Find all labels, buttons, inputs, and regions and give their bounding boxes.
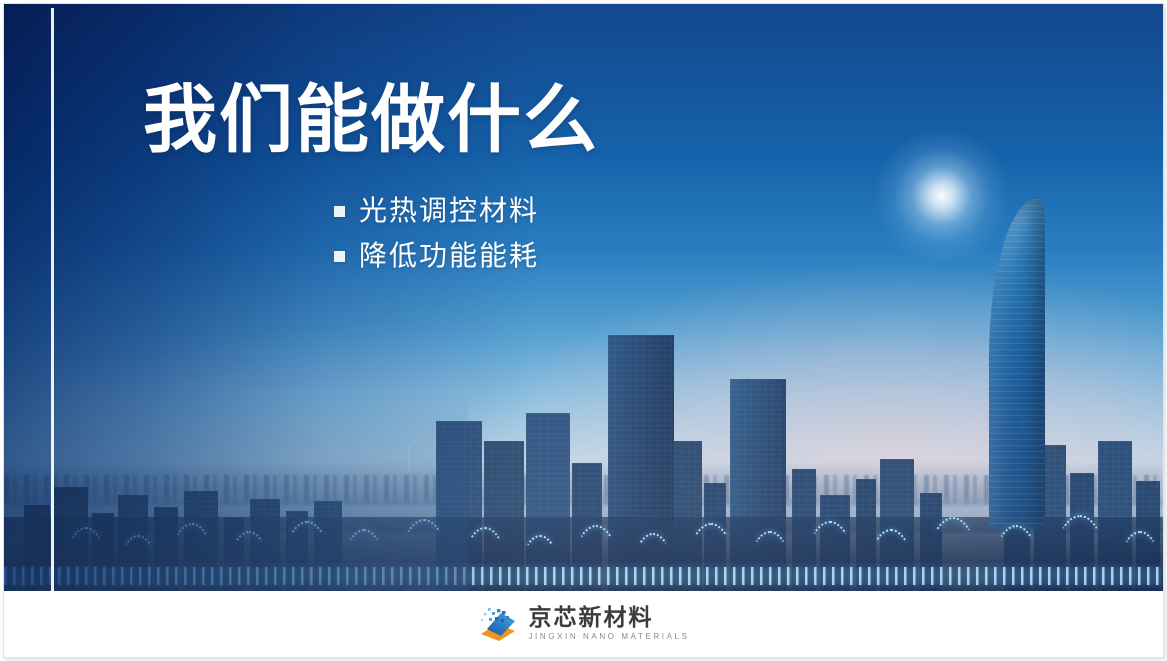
ferris-wheel-icon	[382, 419, 436, 473]
bullet-label: 降低功能能耗	[359, 241, 539, 272]
logo-wordmark: 京芯新材料 JINGXIN NANO MATERIALS	[528, 607, 689, 641]
bullet-list: 光热调控材料 降低功能能耗	[334, 196, 539, 286]
left-accent-rule	[51, 8, 54, 591]
logo-en-name: JINGXIN NANO MATERIALS	[528, 633, 689, 641]
logo-cn-name: 京芯新材料	[528, 607, 689, 630]
hero-background-image: 我们能做什么 光热调控材料 降低功能能耗	[4, 4, 1163, 591]
slide-canvas: 我们能做什么 光热调控材料 降低功能能耗	[0, 0, 1167, 661]
footer-bar: 京芯新材料 JINGXIN NANO MATERIALS	[4, 591, 1163, 657]
bullet-label: 光热调控材料	[359, 196, 539, 227]
jingxin-logo-mark-icon	[477, 605, 519, 643]
list-item: 光热调控材料	[334, 196, 539, 227]
company-logo: 京芯新材料 JINGXIN NANO MATERIALS	[477, 605, 689, 643]
square-bullet-icon	[334, 206, 345, 217]
list-item: 降低功能能耗	[334, 241, 539, 272]
slide-title: 我们能做什么	[143, 81, 599, 159]
square-bullet-icon	[334, 251, 345, 262]
